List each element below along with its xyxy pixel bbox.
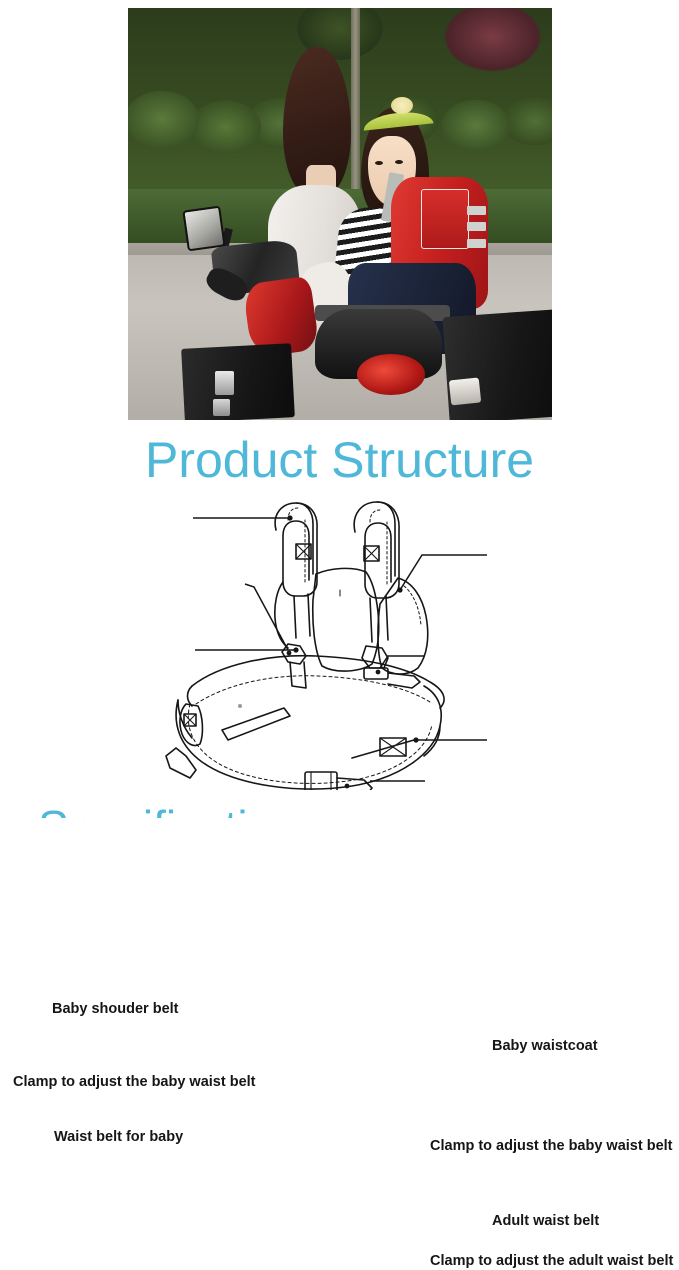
harness-line-drawing: [0, 490, 679, 790]
side-case-latch-upper: [215, 371, 234, 396]
next-section-title-specification: Specification: [38, 802, 299, 818]
motorcycle-taillight: [357, 354, 425, 395]
background-pole: [351, 8, 360, 198]
next-section-heading-clip: Specification: [0, 802, 679, 818]
diagram-label-adult-waist-belt: Adult waist belt: [492, 1213, 599, 1230]
diagram-label-clamp-baby-waist-belt-right: Clamp to adjust the baby waist belt: [430, 1138, 673, 1155]
diagram-label-clamp-adult-waist-belt: Clamp to adjust the adult waist belt: [430, 1253, 673, 1270]
vest-reflector-2: [467, 222, 486, 231]
child-hair-flower: [391, 97, 413, 114]
hero-photo: [128, 8, 552, 420]
vest-reflector-3: [467, 239, 486, 248]
motorcycle-indicator: [449, 377, 481, 405]
vest-pocket: [421, 189, 470, 249]
diagram-label-baby-waistcoat: Baby waistcoat: [492, 1038, 598, 1055]
side-case-latch-lower: [213, 399, 230, 415]
diagram-label-waist-belt-for-baby: Waist belt for baby: [54, 1129, 183, 1146]
motorcycle-side-case-left: [181, 343, 295, 420]
diagram-label-clamp-baby-waist-belt-left: Clamp to adjust the baby waist belt: [13, 1074, 256, 1091]
vest-reflector-1: [467, 206, 486, 215]
section-title-product-structure: Product Structure: [0, 432, 679, 488]
photo-scene: [128, 8, 552, 420]
motorcycle-mirror: [183, 205, 226, 251]
product-structure-diagram: Baby shouder belt Clamp to adjust the ba…: [0, 490, 679, 790]
diagram-label-baby-shoulder-belt: Baby shouder belt: [52, 1001, 179, 1018]
